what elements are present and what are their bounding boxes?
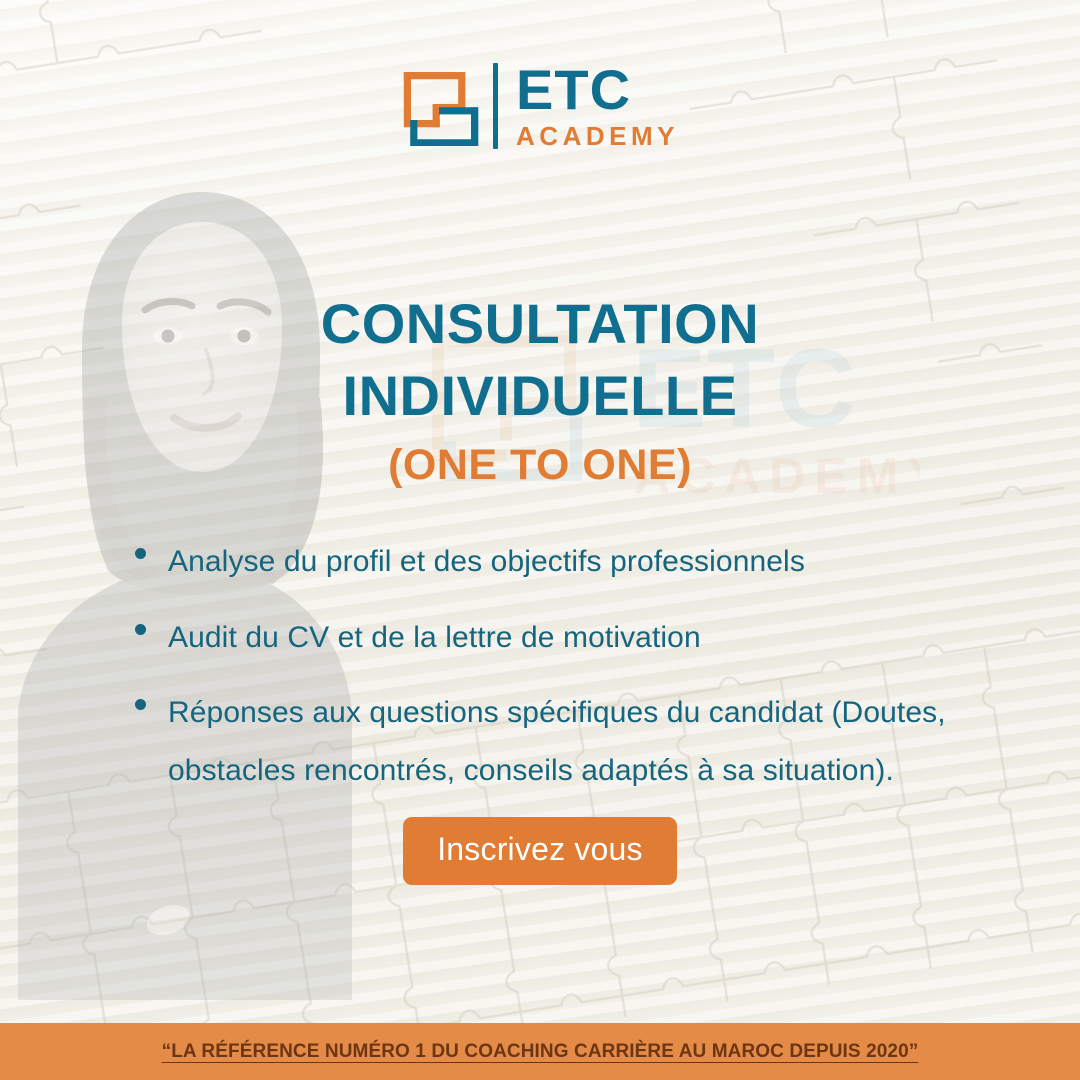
logo-wordmark: ETC ACADEMY xyxy=(516,62,679,149)
bullet-dot-icon xyxy=(135,624,146,635)
headline-block: CONSULTATION INDIVIDUELLE (ONE TO ONE) xyxy=(0,288,1080,490)
logo-divider xyxy=(493,63,498,149)
headline-subtitle: (ONE TO ONE) xyxy=(0,441,1080,490)
list-item: Analyse du profil et des objectifs profe… xyxy=(132,533,972,591)
feature-list: Analyse du profil et des objectifs profe… xyxy=(132,533,972,817)
bullet-dot-icon xyxy=(135,548,146,559)
bullet-dot-icon xyxy=(135,699,146,710)
footer-tagline: “LA RÉFÉRENCE NUMÉRO 1 DU COACHING CARRI… xyxy=(162,1041,919,1063)
footer-band: “LA RÉFÉRENCE NUMÉRO 1 DU COACHING CARRI… xyxy=(0,1023,1080,1080)
list-item-label: Réponses aux questions spécifiques du ca… xyxy=(168,684,972,799)
signup-button[interactable]: Inscrivez vous xyxy=(403,817,677,885)
list-item: Réponses aux questions spécifiques du ca… xyxy=(132,684,972,799)
logo-name-primary: ETC xyxy=(516,62,631,118)
headline-line-1: CONSULTATION xyxy=(0,288,1080,360)
poster-canvas: ETC ACADEMY ETC ACADEMY CONSULTATION IND… xyxy=(0,0,1080,1080)
brand-logo[interactable]: ETC ACADEMY xyxy=(0,62,1080,149)
etc-logo-mark-icon xyxy=(401,66,481,146)
list-item-label: Analyse du profil et des objectifs profe… xyxy=(168,533,805,591)
cta-area: Inscrivez vous xyxy=(0,817,1080,885)
list-item: Audit du CV et de la lettre de motivatio… xyxy=(132,609,972,667)
list-item-label: Audit du CV et de la lettre de motivatio… xyxy=(168,609,701,667)
headline-line-2: INDIVIDUELLE xyxy=(0,360,1080,432)
logo-name-secondary: ACADEMY xyxy=(516,123,679,149)
